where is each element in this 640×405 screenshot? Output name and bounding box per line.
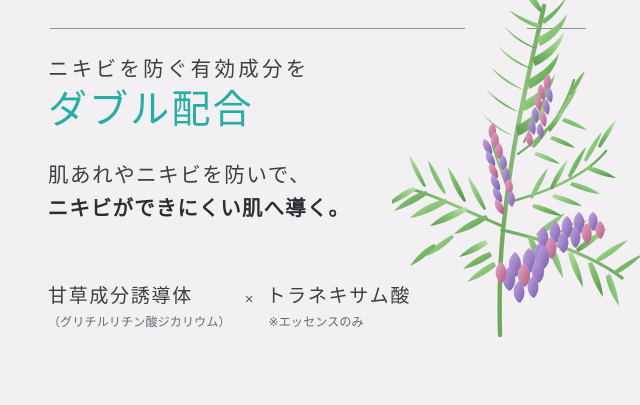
promo-banner: ニキビを防ぐ有効成分を ダブル配合 肌あれやニキビを防いで、 ニキビができにくい… (0, 0, 640, 405)
divider-segment-right (527, 28, 586, 29)
ingredient-left-name: 甘草成分誘導体 (48, 286, 231, 309)
ingredient-right-note: ※エッセンスのみ (268, 315, 411, 331)
ingredient-left-note: （グリチルリチン酸ジカリウム） (48, 315, 231, 331)
divider (0, 0, 640, 60)
ingredient-right: トラネキサム酸 ※エッセンスのみ (266, 286, 411, 330)
copy-block: ニキビを防ぐ有効成分を ダブル配合 肌あれやニキビを防いで、 ニキビができにくい… (48, 56, 448, 225)
eyebrow-text: ニキビを防ぐ有効成分を (48, 56, 448, 83)
ingredient-left: 甘草成分誘導体 （グリチルリチン酸ジカリウム） (48, 286, 231, 330)
ingredient-right-name: トラネキサム酸 (266, 286, 411, 309)
subcopy-line-1: 肌あれやニキビを防いで、 (48, 159, 448, 192)
multiply-icon: × (245, 291, 254, 309)
subcopy-line-2: ニキビができにくい肌へ導く。 (48, 192, 448, 225)
headline-text: ダブル配合 (48, 87, 448, 135)
ingredients-block: 甘草成分誘導体 （グリチルリチン酸ジカリウム） × トラネキサム酸 ※エッセンス… (48, 286, 411, 330)
divider-segment-left (50, 28, 465, 29)
subcopy-block: 肌あれやニキビを防いで、 ニキビができにくい肌へ導く。 (48, 159, 448, 225)
